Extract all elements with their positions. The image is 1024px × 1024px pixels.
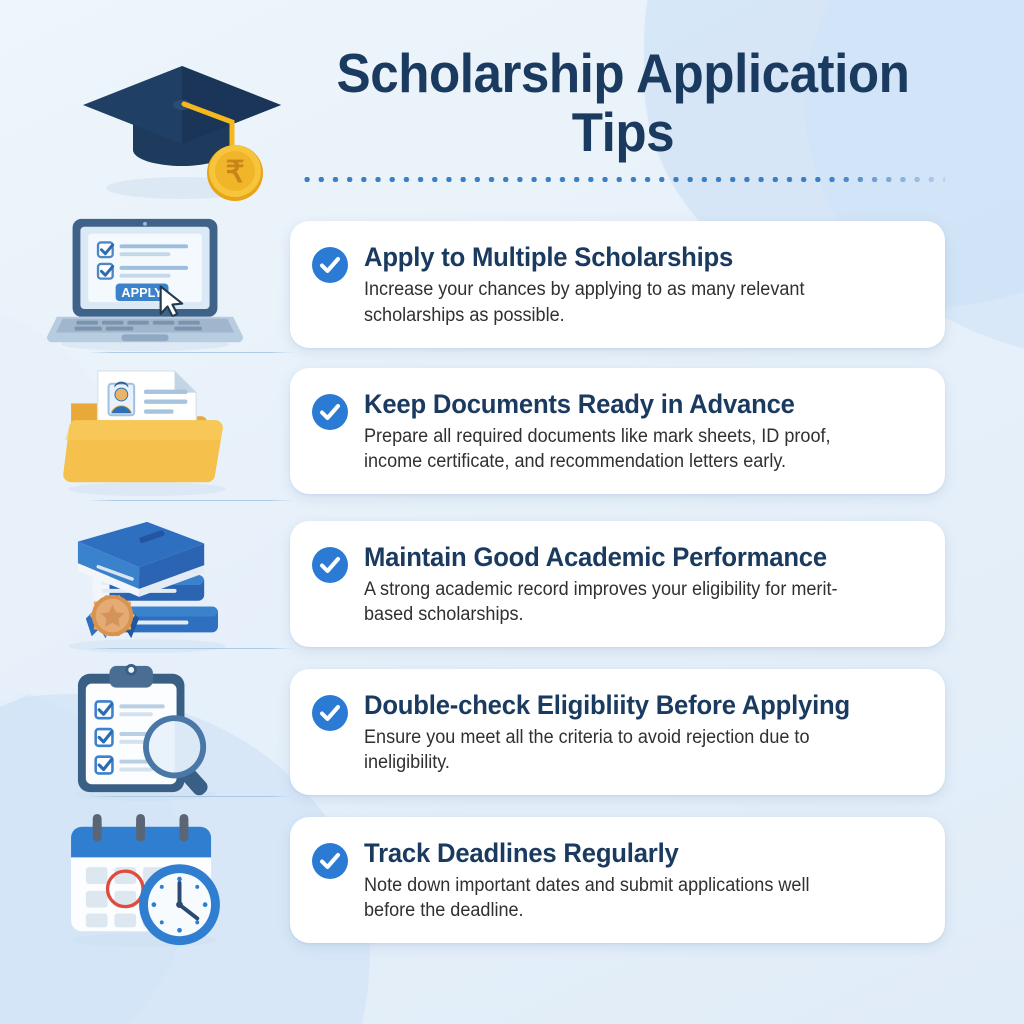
tip-title: Maintain Good Academic Performance <box>364 542 891 572</box>
apply-button-label: APPLY <box>121 285 163 300</box>
check-circle-icon <box>312 247 348 283</box>
tip-card-2[interactable]: Keep Documents Ready in Advance Prepare … <box>290 368 945 495</box>
tip-card-4[interactable]: Double-check Eligibliity Before Applying… <box>290 669 945 796</box>
tip-row-1: APPLY <box>0 215 1024 354</box>
tip-title: Apply to Multiple Scholarships <box>364 242 891 272</box>
tip-description: A strong academic record improves your e… <box>364 577 858 628</box>
books-with-award-medal-icon <box>0 512 290 656</box>
tip-title: Double-check Eligibliity Before Applying <box>364 690 891 720</box>
tip-card-5[interactable]: Track Deadlines Regularly Note down impo… <box>290 817 945 944</box>
clock-icon <box>139 864 220 945</box>
tip-row-3: Maintain Good Academic Performance A str… <box>0 512 1024 656</box>
tip-row-4: Double-check Eligibliity Before Applying… <box>0 660 1024 804</box>
left-column-divider-2 <box>88 500 294 501</box>
tip-description: Ensure you meet all the criteria to avoi… <box>364 725 858 776</box>
tip-row-5: Track Deadlines Regularly Note down impo… <box>0 810 1024 950</box>
page-title: Scholarship Application Tips <box>300 44 946 163</box>
check-circle-icon <box>312 695 348 731</box>
calendar-clock-deadline-icon <box>0 810 290 950</box>
clipboard-checklist-magnifier-icon <box>0 660 290 804</box>
title-line-2: Tips <box>323 103 924 162</box>
tip-card-3[interactable]: Maintain Good Academic Performance A str… <box>290 521 945 648</box>
tip-card-1[interactable]: Apply to Multiple Scholarships Increase … <box>290 221 945 348</box>
left-column-divider-4 <box>88 796 294 797</box>
tip-description: Prepare all required documents like mark… <box>364 424 858 475</box>
left-column-divider-3 <box>88 648 294 649</box>
check-circle-icon <box>312 547 348 583</box>
tip-description: Increase your chances by applying to as … <box>364 277 858 328</box>
rupee-symbol: ₹ <box>225 156 244 189</box>
graduation-cap-with-rupee-coin-icon: ₹ <box>78 48 290 208</box>
left-column-divider-1 <box>88 352 294 353</box>
tip-description: Note down important dates and submit app… <box>364 873 858 924</box>
tip-title: Track Deadlines Regularly <box>364 838 891 868</box>
tip-title: Keep Documents Ready in Advance <box>364 389 891 419</box>
infographic-poster: ₹ Scholarship Application Tips <box>0 0 1024 1024</box>
laptop-online-application-icon: APPLY <box>0 215 290 354</box>
dotted-divider <box>300 176 945 183</box>
decorative-blob-mid-left <box>0 300 140 720</box>
tip-row-2: Keep Documents Ready in Advance Prepare … <box>0 364 1024 498</box>
check-circle-icon <box>312 843 348 879</box>
title-line-1: Scholarship Application <box>323 44 924 103</box>
check-circle-icon <box>312 394 348 430</box>
folder-documents-icon <box>0 364 290 498</box>
